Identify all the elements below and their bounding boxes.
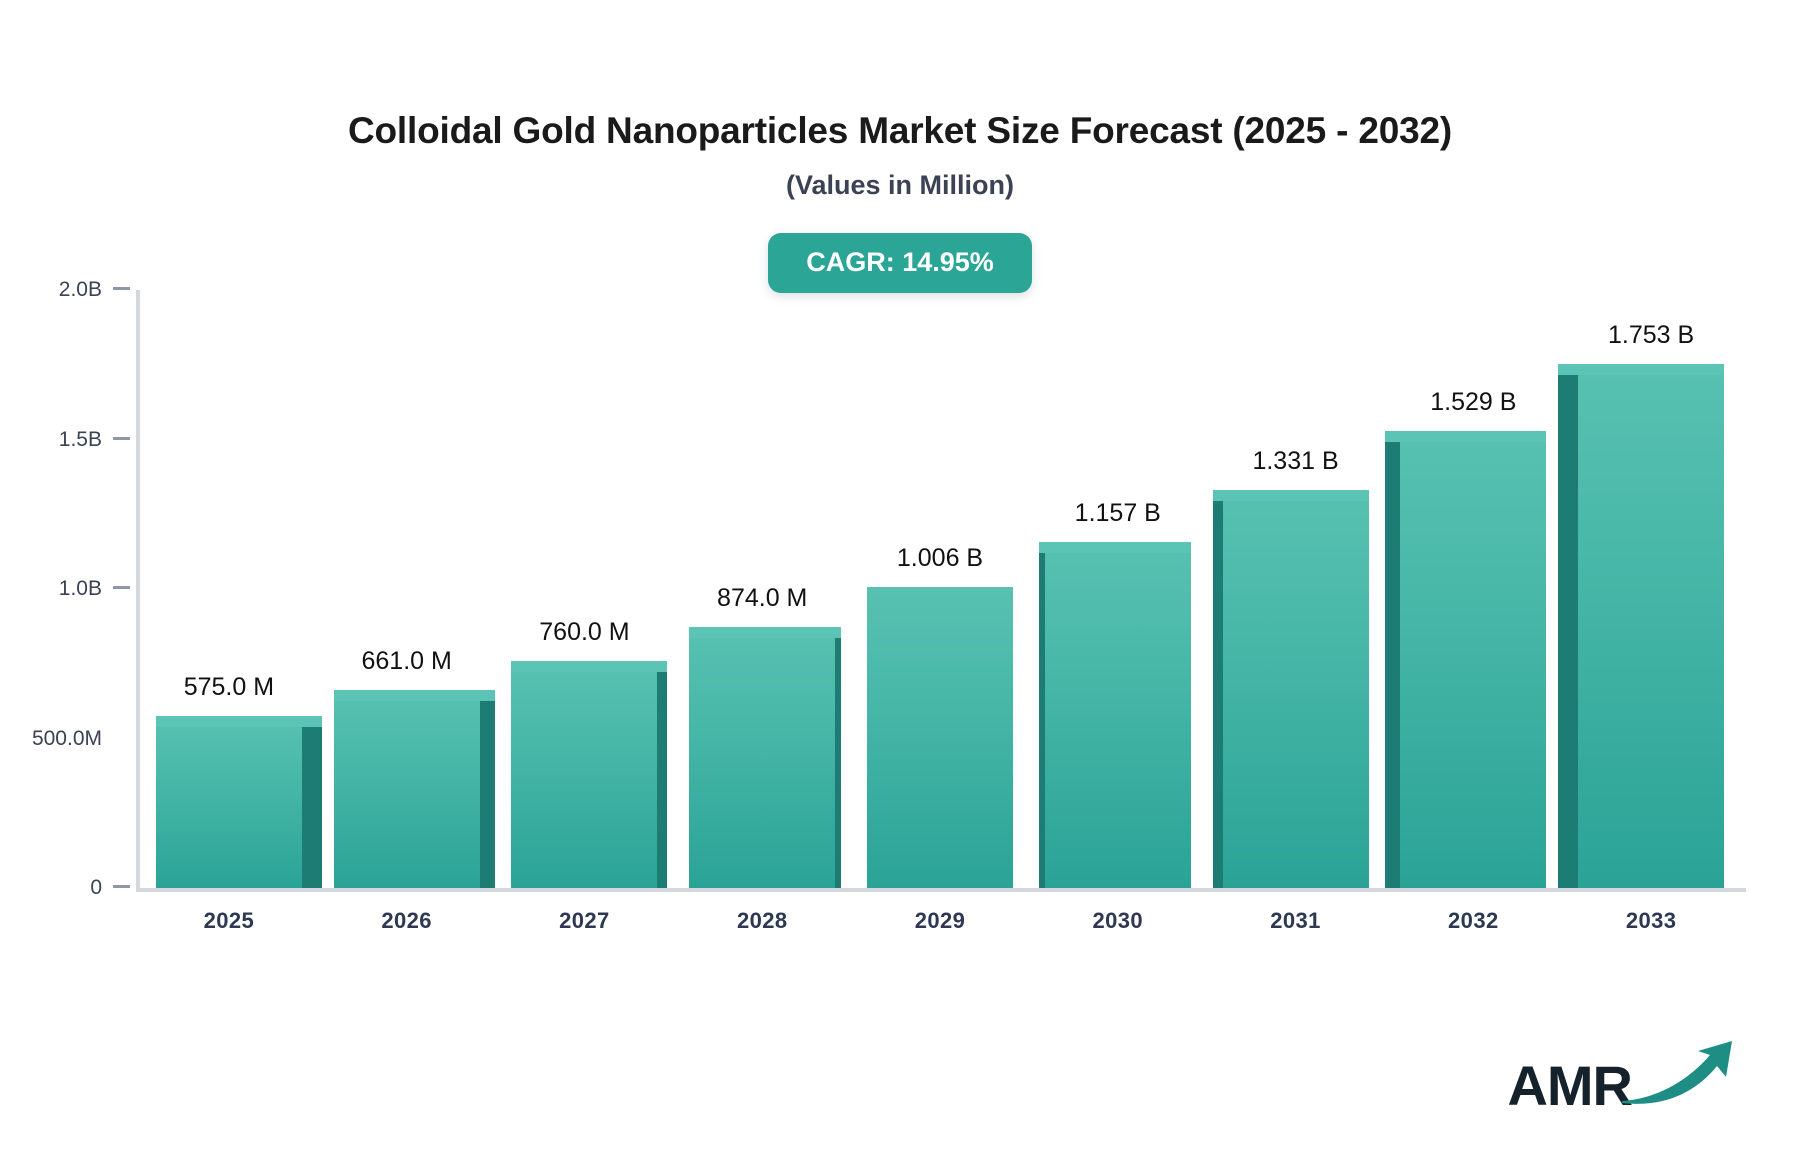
- bar-side-face: [302, 727, 322, 888]
- bar-front-face: [689, 627, 835, 888]
- x-axis-line: [136, 888, 1746, 892]
- bar-front-face: [334, 690, 480, 888]
- bar-2032[interactable]: 1.529 B: [1400, 431, 1546, 888]
- bar-value-label: 1.331 B: [1186, 447, 1406, 476]
- amr-wordmark: AMR: [1507, 1058, 1632, 1114]
- bar-2025[interactable]: 575.0 M: [156, 716, 302, 888]
- bar-side-face: [480, 701, 495, 888]
- x-axis-tick-2033: 2033: [1551, 908, 1751, 934]
- x-axis-tick-2032: 2032: [1373, 908, 1573, 934]
- bar-top-face: [511, 661, 667, 672]
- bar-front-face: [156, 716, 302, 888]
- bar-value-label: 1.753 B: [1541, 321, 1761, 350]
- y-axis-tick-mark: [113, 586, 130, 589]
- bar-front-face: [1223, 490, 1369, 888]
- bar-top-face: [1039, 542, 1191, 553]
- x-axis-tick-2030: 2030: [1018, 908, 1218, 934]
- bar-side-face: [835, 638, 841, 888]
- bar-side-face: [1039, 553, 1045, 888]
- growth-arrow-icon: [1618, 1039, 1738, 1110]
- y-axis-tick-mark: [113, 287, 130, 290]
- bar-front-face: [867, 587, 1013, 888]
- bar-top-face: [1558, 364, 1724, 375]
- bar-value-label: 575.0 M: [119, 673, 339, 702]
- y-axis-tick-mark: [113, 885, 130, 888]
- y-axis-tick-1: 500.0M: [0, 727, 130, 751]
- y-axis-tick-2: 1.0B: [0, 577, 130, 601]
- y-axis-tick-label: 0: [90, 876, 102, 899]
- x-axis-tick-2031: 2031: [1196, 908, 1396, 934]
- bar-2029[interactable]: 1.006 B: [867, 587, 1013, 888]
- bar-side-face: [1213, 501, 1223, 888]
- bar-top-face: [156, 716, 322, 727]
- bar-top-face: [1385, 431, 1546, 442]
- bar-side-face: [1558, 375, 1578, 888]
- y-axis-tick-4: 2.0B: [0, 278, 130, 302]
- bar-2028[interactable]: 874.0 M: [689, 627, 835, 888]
- x-axis-tick-2025: 2025: [129, 908, 329, 934]
- y-axis-tick-label: 1.5B: [59, 428, 102, 451]
- bar-side-face: [657, 672, 667, 888]
- bar-2030[interactable]: 1.157 B: [1045, 542, 1191, 888]
- bar-value-label: 760.0 M: [474, 618, 694, 647]
- x-axis-tick-2028: 2028: [662, 908, 862, 934]
- bar-side-face: [1385, 442, 1400, 888]
- amr-logo: AMR: [1507, 1039, 1738, 1114]
- bar-top-face: [689, 627, 841, 638]
- y-axis-tick-label: 1.0B: [59, 577, 102, 600]
- bar-2033[interactable]: 1.753 B: [1578, 364, 1724, 888]
- bar-value-label: 661.0 M: [297, 647, 517, 676]
- bar-2027[interactable]: 760.0 M: [511, 661, 657, 888]
- bar-value-label: 874.0 M: [652, 584, 872, 613]
- bar-value-label: 1.157 B: [1008, 499, 1228, 528]
- bar-2031[interactable]: 1.331 B: [1223, 490, 1369, 888]
- y-axis-tick-mark: [113, 437, 130, 440]
- x-axis-tick-2029: 2029: [840, 908, 1040, 934]
- y-axis-tick-label: 2.0B: [59, 278, 102, 301]
- y-axis-tick-label: 500.0M: [32, 727, 102, 750]
- bar-value-label: 1.529 B: [1363, 388, 1583, 417]
- bar-front-face: [1400, 431, 1546, 888]
- x-axis-tick-2026: 2026: [307, 908, 507, 934]
- chart-plot-area: 0500.0M1.0B1.5B2.0B 575.0 M661.0 M760.0 …: [0, 0, 1800, 1156]
- bar-series: 575.0 M661.0 M760.0 M874.0 M1.006 B1.157…: [140, 290, 1740, 888]
- bar-2026[interactable]: 661.0 M: [334, 690, 480, 888]
- bar-value-label: 1.006 B: [830, 544, 1050, 573]
- y-axis-tick-3: 1.5B: [0, 428, 130, 452]
- bar-top-face: [1213, 490, 1369, 501]
- x-axis-tick-2027: 2027: [484, 908, 684, 934]
- bar-front-face: [1045, 542, 1191, 888]
- y-axis-tick-0: 0: [0, 876, 130, 900]
- bar-front-face: [511, 661, 657, 888]
- y-axis-tick-mark: [113, 736, 130, 739]
- bar-top-face: [334, 690, 495, 701]
- bar-front-face: [1578, 364, 1724, 888]
